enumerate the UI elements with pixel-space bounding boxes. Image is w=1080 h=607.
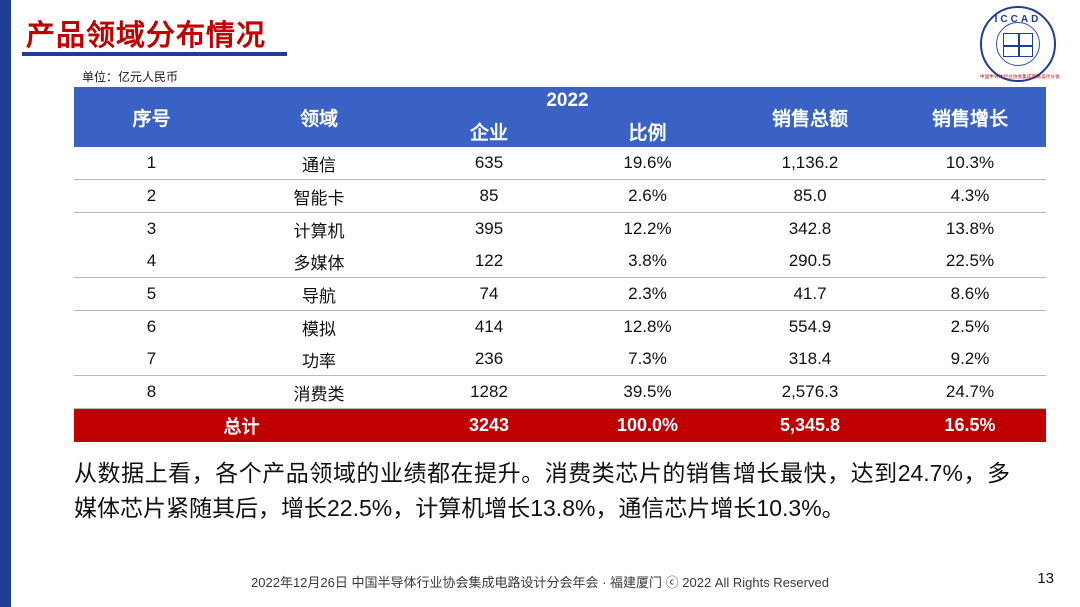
left-accent-bar — [0, 0, 11, 607]
cell-sales: 342.8 — [726, 213, 894, 246]
title-underline — [22, 52, 287, 56]
logo-text-bottom: 中国半导体行业协会集成电路设计分会 — [980, 74, 1056, 80]
cell-field: 计算机 — [229, 213, 409, 246]
cell-companies: 74 — [409, 278, 569, 311]
cell-field: 多媒体 — [229, 245, 409, 278]
cell-sales: 290.5 — [726, 245, 894, 278]
cell-growth: 8.6% — [894, 278, 1046, 311]
table-total-row: 总计 3243 100.0% 5,345.8 16.5% — [74, 409, 1046, 443]
cell-growth: 2.5% — [894, 311, 1046, 344]
cell-no: 6 — [74, 311, 229, 344]
table-header-row-1: 序号 领域 2022 销售总额 销售增长 — [74, 87, 1046, 115]
cell-sales: 85.0 — [726, 180, 894, 213]
logo-inner-circle — [996, 22, 1040, 66]
cell-sales: 2,576.3 — [726, 376, 894, 409]
cell-companies: 122 — [409, 245, 569, 278]
cell-growth: 9.2% — [894, 343, 1046, 376]
header-cell-no: 序号 — [74, 87, 229, 147]
cell-no: 3 — [74, 213, 229, 246]
cell-growth: 22.5% — [894, 245, 1046, 278]
footer-text: 2022年12月26日 中国半导体行业协会集成电路设计分会年会 · 福建厦门 ⓒ… — [0, 572, 1080, 591]
table-row: 5 导航 74 2.3% 41.7 8.6% — [74, 278, 1046, 311]
cell-field: 功率 — [229, 343, 409, 376]
summary-paragraph: 从数据上看，各个产品领域的业绩都在提升。消费类芯片的销售增长最快，达到24.7%… — [74, 456, 1010, 526]
table-row: 8 消费类 1282 39.5% 2,576.3 24.7% — [74, 376, 1046, 409]
table-row: 4 多媒体 122 3.8% 290.5 22.5% — [74, 245, 1046, 278]
cell-growth: 10.3% — [894, 147, 1046, 180]
cell-no: 2 — [74, 180, 229, 213]
cell-ratio: 19.6% — [569, 147, 726, 180]
cell-ratio: 3.8% — [569, 245, 726, 278]
header-cell-year: 2022 — [409, 87, 726, 115]
total-ratio: 100.0% — [569, 409, 726, 443]
page-title: 产品领域分布情况 — [26, 12, 266, 54]
total-companies: 3243 — [409, 409, 569, 443]
cell-companies: 414 — [409, 311, 569, 344]
cell-growth: 24.7% — [894, 376, 1046, 409]
cell-sales: 318.4 — [726, 343, 894, 376]
cell-growth: 4.3% — [894, 180, 1046, 213]
total-label: 总计 — [74, 409, 409, 443]
cell-sales: 554.9 — [726, 311, 894, 344]
cell-ratio: 7.3% — [569, 343, 726, 376]
header-cell-sales: 销售总额 — [726, 87, 894, 147]
cell-ratio: 12.2% — [569, 213, 726, 246]
header-cell-growth: 销售增长 — [894, 87, 1046, 147]
cell-no: 7 — [74, 343, 229, 376]
header-cell-ratio: 比例 — [569, 115, 726, 147]
cell-sales: 1,136.2 — [726, 147, 894, 180]
cell-growth: 13.8% — [894, 213, 1046, 246]
cell-ratio: 2.6% — [569, 180, 726, 213]
unit-label: 单位：亿元人民币 — [82, 68, 178, 85]
cell-no: 5 — [74, 278, 229, 311]
cell-field: 智能卡 — [229, 180, 409, 213]
cell-sales: 41.7 — [726, 278, 894, 311]
cell-ratio: 39.5% — [569, 376, 726, 409]
cell-ratio: 2.3% — [569, 278, 726, 311]
cell-field: 通信 — [229, 147, 409, 180]
iccad-logo: ICCAD 中国半导体行业协会集成电路设计分会 — [980, 6, 1058, 84]
header-cell-field: 领域 — [229, 87, 409, 147]
cell-no: 8 — [74, 376, 229, 409]
cell-companies: 635 — [409, 147, 569, 180]
cell-companies: 1282 — [409, 376, 569, 409]
total-growth: 16.5% — [894, 409, 1046, 443]
cell-companies: 85 — [409, 180, 569, 213]
cell-companies: 236 — [409, 343, 569, 376]
cell-field: 导航 — [229, 278, 409, 311]
table-row: 1 通信 635 19.6% 1,136.2 10.3% — [74, 147, 1046, 180]
table-row: 7 功率 236 7.3% 318.4 9.2% — [74, 343, 1046, 376]
header-cell-companies: 企业 — [409, 115, 569, 147]
table-row: 2 智能卡 85 2.6% 85.0 4.3% — [74, 180, 1046, 213]
product-field-table: 序号 领域 2022 销售总额 销售增长 企业 比例 1 通信 635 19.6… — [74, 87, 1046, 442]
table-row: 3 计算机 395 12.2% 342.8 13.8% — [74, 213, 1046, 246]
cell-ratio: 12.8% — [569, 311, 726, 344]
cell-companies: 395 — [409, 213, 569, 246]
cell-no: 1 — [74, 147, 229, 180]
cell-field: 模拟 — [229, 311, 409, 344]
chip-grid-icon — [1003, 33, 1033, 57]
cell-field: 消费类 — [229, 376, 409, 409]
cell-no: 4 — [74, 245, 229, 278]
total-sales: 5,345.8 — [726, 409, 894, 443]
slide-root: 产品领域分布情况 ICCAD 中国半导体行业协会集成电路设计分会 单位：亿元人民… — [0, 0, 1080, 607]
table-row: 6 模拟 414 12.8% 554.9 2.5% — [74, 311, 1046, 344]
page-number: 13 — [1037, 570, 1054, 587]
